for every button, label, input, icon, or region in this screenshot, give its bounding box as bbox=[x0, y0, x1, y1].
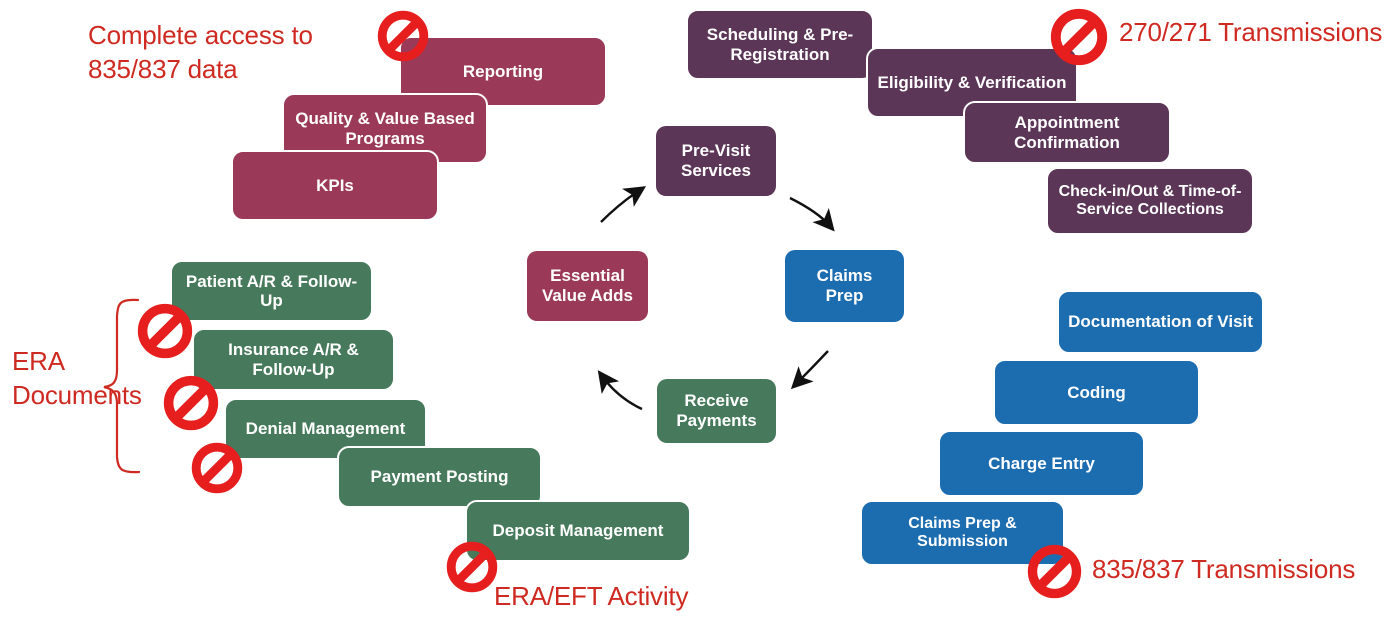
stack-item-payment-posting[interactable]: Payment Posting bbox=[337, 446, 542, 508]
hub-pre-visit-services[interactable]: Pre-Visit Services bbox=[656, 126, 776, 196]
prohibition-icon bbox=[163, 375, 219, 431]
hub-essential-value-adds[interactable]: Essential Value Adds bbox=[527, 251, 648, 321]
hub-receive-payments[interactable]: Receive Payments bbox=[657, 379, 776, 443]
diagram-canvas: Complete access to 835/837 data Reportin… bbox=[0, 0, 1400, 619]
stack-item-insurance-ar-followup[interactable]: Insurance A/R & Follow-Up bbox=[192, 328, 395, 391]
prohibition-icon bbox=[1050, 8, 1108, 66]
prohibition-icon bbox=[446, 541, 498, 593]
prohibition-icon bbox=[377, 10, 429, 62]
prohibition-icon bbox=[191, 442, 243, 494]
stack-item-patient-ar-followup[interactable]: Patient A/R & Follow-Up bbox=[170, 260, 373, 322]
hub-claims-prep[interactable]: Claims Prep bbox=[785, 250, 904, 322]
stack-item-appointment-confirmation[interactable]: Appointment Confirmation bbox=[963, 101, 1171, 164]
stack-item-scheduling-pre-registration[interactable]: Scheduling & Pre-Registration bbox=[686, 9, 874, 80]
stack-item-kpis[interactable]: KPIs bbox=[231, 150, 439, 221]
stack-item-documentation-of-visit[interactable]: Documentation of Visit bbox=[1057, 290, 1264, 354]
annotation-complete-access: Complete access to 835/837 data bbox=[88, 19, 378, 87]
annotation-era-eft-activity: ERA/EFT Activity bbox=[494, 580, 754, 614]
stack-item-checkin-checkout-time-of-service-collections[interactable]: Check-in/Out & Time-of-Service Collectio… bbox=[1046, 167, 1254, 235]
prohibition-icon bbox=[1027, 544, 1082, 599]
annotation-835-837-transmissions: 835/837 Transmissions bbox=[1092, 553, 1400, 587]
prohibition-icon bbox=[137, 303, 193, 359]
stack-item-deposit-management[interactable]: Deposit Management bbox=[465, 500, 691, 562]
stack-item-coding[interactable]: Coding bbox=[993, 359, 1200, 426]
stack-item-charge-entry[interactable]: Charge Entry bbox=[938, 430, 1145, 497]
annotation-270-271-transmissions: 270/271 Transmissions bbox=[1119, 16, 1400, 50]
